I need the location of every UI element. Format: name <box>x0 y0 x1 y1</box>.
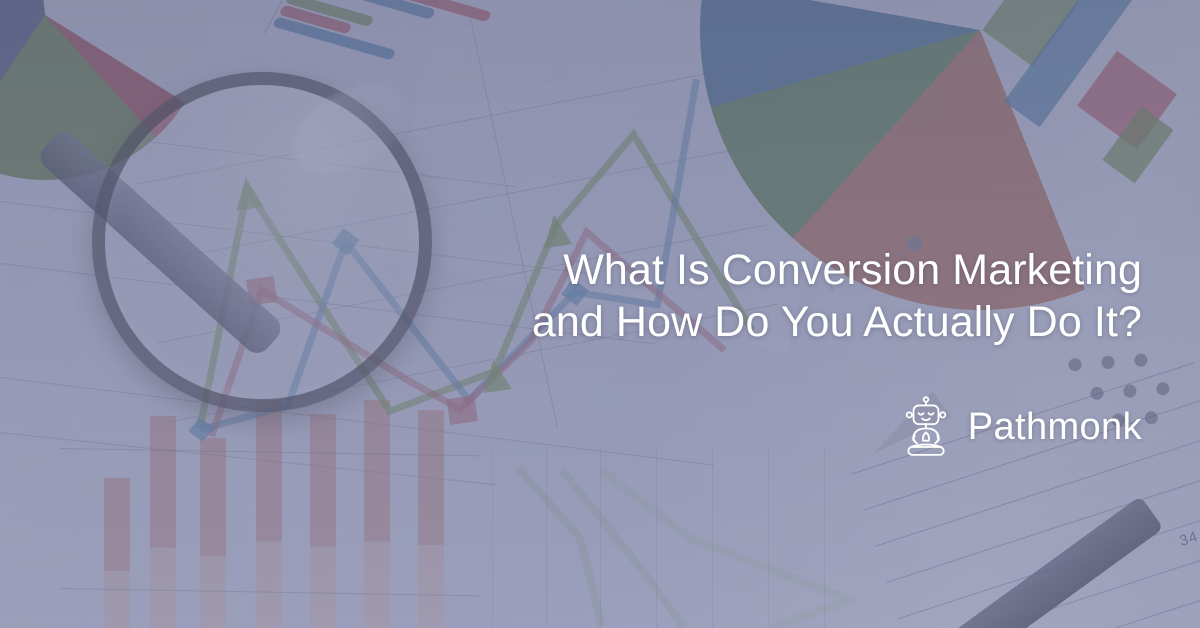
meditating-robot-monk-icon <box>901 396 951 458</box>
blog-banner: 2 2 34 17 12 3 What Is Conversion Market… <box>0 0 1200 628</box>
page-title: What Is Conversion Marketing and How Do … <box>322 244 1142 348</box>
brand-name: Pathmonk <box>968 408 1142 446</box>
brand-lockup: Pathmonk <box>901 396 1142 458</box>
headline-line-1: What Is Conversion Marketing <box>322 244 1142 296</box>
headline-line-2: and How Do You Actually Do It? <box>322 296 1142 348</box>
banner-content: What Is Conversion Marketing and How Do … <box>0 0 1200 628</box>
